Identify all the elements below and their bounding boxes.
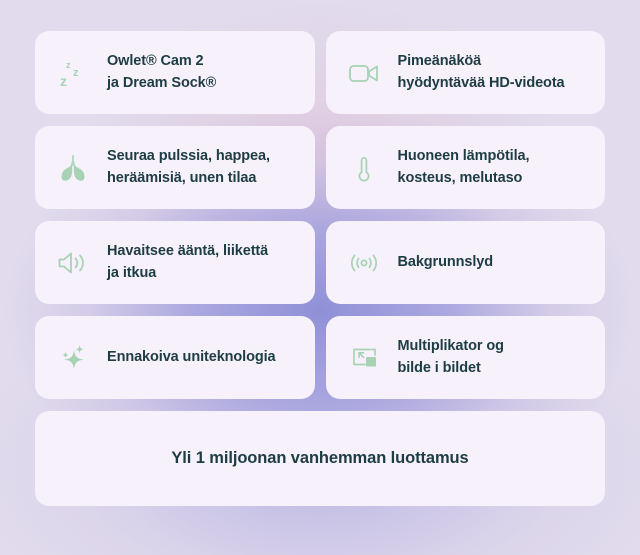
lungs-icon bbox=[53, 148, 93, 188]
thermometer-icon bbox=[344, 148, 384, 188]
svg-text:z: z bbox=[66, 60, 71, 70]
sparkles-icon bbox=[53, 338, 93, 378]
svg-text:z: z bbox=[60, 73, 67, 89]
feature-card-predictive-sleep-tech[interactable]: Ennakoiva uniteknologia bbox=[35, 316, 315, 399]
picture-in-picture-icon bbox=[344, 338, 384, 378]
feature-card-room-climate[interactable]: Huoneen lämpötila, kosteus, melutaso bbox=[326, 126, 606, 209]
feature-card-label: Ennakoiva uniteknologia bbox=[107, 347, 276, 368]
feature-card-grid: z z z Owlet® Cam 2 ja Dream Sock® bbox=[35, 31, 605, 399]
feature-card-label-line2: heräämisiä, unen tilaa bbox=[107, 168, 270, 189]
feature-card-label-line2: bilde i bildet bbox=[398, 358, 504, 379]
feature-grid-page: z z z Owlet® Cam 2 ja Dream Sock® bbox=[0, 0, 640, 555]
feature-card-label-line2: hyödyntävää HD-videota bbox=[398, 73, 565, 94]
speaker-sound-icon bbox=[53, 243, 93, 283]
feature-card-label-line1: Pimeänäköä bbox=[398, 51, 565, 72]
feature-card-picture-in-picture[interactable]: Multiplikator og bilde i bildet bbox=[326, 316, 606, 399]
feature-card-owlet-devices[interactable]: z z z Owlet® Cam 2 ja Dream Sock® bbox=[35, 31, 315, 114]
feature-card-label: Bakgrunnslyd bbox=[398, 252, 494, 273]
feature-card-label-line1: Bakgrunnslyd bbox=[398, 252, 494, 273]
feature-card-label: Havaitsee ääntä, liikettä ja itkua bbox=[107, 241, 268, 283]
trust-banner: Yli 1 miljoonan vanhemman luottamus bbox=[35, 411, 605, 506]
feature-card-label-line1: Ennakoiva uniteknologia bbox=[107, 347, 276, 368]
trust-banner-label: Yli 1 miljoonan vanhemman luottamus bbox=[171, 449, 468, 468]
sleep-zzz-icon: z z z bbox=[53, 53, 93, 93]
svg-text:z: z bbox=[73, 67, 79, 79]
feature-card-label-line2: ja Dream Sock® bbox=[107, 73, 216, 94]
feature-card-label: Owlet® Cam 2 ja Dream Sock® bbox=[107, 51, 216, 93]
feature-card-label-line1: Multiplikator og bbox=[398, 336, 504, 357]
feature-card-label-line2: ja itkua bbox=[107, 263, 268, 284]
feature-card-label-line1: Havaitsee ääntä, liikettä bbox=[107, 241, 268, 262]
feature-card-label: Huoneen lämpötila, kosteus, melutaso bbox=[398, 146, 530, 188]
feature-card-label-line1: Huoneen lämpötila, bbox=[398, 146, 530, 167]
video-camera-icon bbox=[344, 53, 384, 93]
feature-card-label-line2: kosteus, melutaso bbox=[398, 168, 530, 189]
feature-card-sound-detection[interactable]: Havaitsee ääntä, liikettä ja itkua bbox=[35, 221, 315, 304]
feature-card-background-sound[interactable]: Bakgrunnslyd bbox=[326, 221, 606, 304]
content-area: z z z Owlet® Cam 2 ja Dream Sock® bbox=[0, 0, 640, 538]
feature-card-label-line1: Seuraa pulssia, happea, bbox=[107, 146, 270, 167]
feature-card-label: Multiplikator og bilde i bildet bbox=[398, 336, 504, 378]
feature-card-night-vision-video[interactable]: Pimeänäköä hyödyntävää HD-videota bbox=[326, 31, 606, 114]
feature-card-label: Seuraa pulssia, happea, heräämisiä, unen… bbox=[107, 146, 270, 188]
feature-card-vitals-monitoring[interactable]: Seuraa pulssia, happea, heräämisiä, unen… bbox=[35, 126, 315, 209]
broadcast-signal-icon bbox=[344, 243, 384, 283]
feature-card-label-line1: Owlet® Cam 2 bbox=[107, 51, 216, 72]
feature-card-label: Pimeänäköä hyödyntävää HD-videota bbox=[398, 51, 565, 93]
